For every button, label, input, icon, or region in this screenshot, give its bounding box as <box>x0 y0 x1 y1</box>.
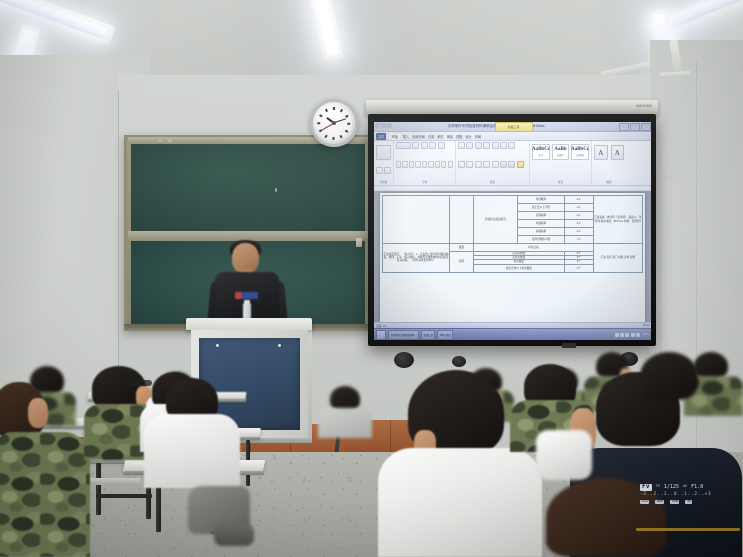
projector-brand-label: MAXHUB <box>636 104 652 108</box>
bold-icon[interactable] <box>396 161 401 168</box>
chalkboard-clip <box>168 139 172 142</box>
style-heading1[interactable]: AaBb 标题 1 <box>552 144 569 160</box>
document-canvas[interactable]: 师资队伍建设情况 专任教师 3人 汇总表格：教学科（张老师） 联系人：张老师 联… <box>374 191 651 322</box>
align-right-icon[interactable] <box>475 161 482 168</box>
ribbon-group-editing[interactable]: A A 编辑 <box>592 141 626 185</box>
taskbar-clock[interactable]: 10:12 <box>643 333 649 336</box>
highlight-icon[interactable] <box>441 161 446 168</box>
italic-icon[interactable] <box>402 161 407 168</box>
desk-rail <box>96 494 152 498</box>
taskbar-item-wps[interactable]: WPS 演示 <box>437 330 453 340</box>
taskbar-item-excel[interactable]: 表格汇总 <box>421 330 436 340</box>
wood-seam <box>390 420 391 456</box>
shirt-camera-print: Fv TV 1/125 AV F1.8 -3..2..1..0..1..2..+… <box>640 484 738 524</box>
shirt-exposure-scale: -3..2..1..0..1..2..+3 <box>640 492 738 497</box>
lectern-top <box>186 318 312 330</box>
projected-screen[interactable]: 办学条件专项检查材料清单及责任分工表.docx - Microsoft Word… <box>374 122 651 340</box>
group-label-font: 字体 <box>396 180 453 184</box>
justify-icon[interactable] <box>483 161 490 168</box>
subscript-icon[interactable] <box>422 161 427 168</box>
desk-leg <box>96 463 101 515</box>
shirt-aperture-prefix: AV <box>683 485 687 489</box>
tab-file[interactable]: 文件 <box>376 133 386 140</box>
borders-icon[interactable] <box>508 161 515 168</box>
tab-page-layout[interactable]: 页面布局 <box>412 134 425 139</box>
contextual-tab-label: 表格工具 <box>495 122 533 132</box>
cell-label-quantity[interactable]: 数量 <box>450 244 474 252</box>
classroom-scene: MAXHUB 办学条件专项检查材料清单及责任分工表.docx - Microso… <box>0 0 743 557</box>
text-effects-icon[interactable] <box>435 161 440 168</box>
tab-layout[interactable]: 布局 <box>475 134 481 139</box>
save-icon[interactable] <box>375 123 380 128</box>
tab-insert[interactable]: 插入 <box>403 134 409 139</box>
cell-note-left[interactable]: 汇总责任部门： （办公室） 1、负责各二级学院材料的收集、整理、汇总，核对材料，… <box>383 244 450 273</box>
word-application[interactable]: 办学条件专项检查材料清单及责任分工表.docx - Microsoft Word… <box>374 122 651 340</box>
chalkboard-clip <box>158 139 162 142</box>
cut-icon[interactable] <box>376 167 383 174</box>
shirt-chip-raw: RAW <box>670 500 679 504</box>
student-body-near-5 <box>378 448 542 557</box>
cell-value[interactable]: 3人 <box>564 228 593 236</box>
ribbon-group-paragraph[interactable]: 段落 <box>456 141 530 185</box>
shield-icon[interactable] <box>631 333 635 337</box>
group-label-clipboard: 剪贴板 <box>376 180 391 184</box>
style-preview: AaBbCc <box>571 147 589 152</box>
group-label-editing: 编辑 <box>594 180 624 184</box>
student-sleeve-near-7 <box>536 430 592 480</box>
tab-home[interactable]: 开始 <box>389 133 399 140</box>
style-name: 正文 <box>539 153 544 157</box>
group-label-styles: 样式 <box>532 180 589 184</box>
strikethrough-icon[interactable] <box>415 161 420 168</box>
cell-blank-b[interactable] <box>450 196 474 244</box>
cell-blank-a[interactable] <box>383 196 450 244</box>
student-body-near-1 <box>0 432 90 557</box>
cell-value[interactable]: 5人 <box>564 220 593 228</box>
status-page-indicator: 页面: 1/2 <box>376 324 386 328</box>
ribbon-group-font[interactable]: 字体 <box>394 141 456 185</box>
sort-icon[interactable] <box>500 142 507 149</box>
document-page[interactable]: 师资队伍建设情况 专任教师 3人 汇总表格：教学科（张老师） 联系人：张老师 联… <box>380 193 645 322</box>
quick-access-toolbar[interactable] <box>375 123 392 128</box>
student-body-near-4 <box>144 414 240 488</box>
student-body-far-3 <box>318 408 372 438</box>
shading-icon[interactable] <box>500 161 507 168</box>
cell-item[interactable]: 双师型教师人数 <box>518 236 565 244</box>
shirt-aperture-value: F1.8 <box>691 485 703 491</box>
cell-value[interactable]: 7人 <box>564 236 593 244</box>
cell-category[interactable]: 师资队伍建设情况 <box>473 196 517 244</box>
cell-item[interactable]: 高级职称 <box>518 212 565 220</box>
minimize-button[interactable] <box>619 123 629 131</box>
shirt-chip-4k: 4K <box>685 500 692 504</box>
grow-font-icon[interactable] <box>421 142 428 149</box>
cell-right-note[interactable]: 汇总表格：教学科（张老师） 联系人：张老师 联系电话：8877xxx 材料：见附… <box>593 196 642 244</box>
editing-icon[interactable]: A <box>611 145 625 160</box>
shirt-shutter-value: 1/125 <box>664 485 679 491</box>
lectern-screw <box>278 344 281 347</box>
line-spacing-icon[interactable] <box>492 161 499 168</box>
tab-review[interactable]: 审阅 <box>447 134 453 139</box>
table-row: 汇总责任部门： （办公室） 1、负责各二级学院材料的收集、整理、汇总，核对材料，… <box>383 244 643 252</box>
chalk-mark <box>275 188 277 192</box>
font-family-select[interactable] <box>396 142 411 149</box>
shirt-chip-awb: AWB <box>655 500 664 504</box>
shoe <box>214 524 254 546</box>
display-speaker <box>394 352 414 368</box>
tab-view[interactable]: 视图 <box>456 134 462 139</box>
windows-taskbar[interactable]: 办学条件专项检查材料... 表格汇总 WPS 演示 10:12 <box>374 328 651 340</box>
cell-value[interactable]: 1人 <box>564 204 593 212</box>
cell-sub-label[interactable]: 校企合作以下单位数量 <box>473 264 564 272</box>
show-marks-icon[interactable] <box>508 142 515 149</box>
cell-far-right-note[interactable]: 汇总 责任 部门 材料 清单 说明 <box>593 244 642 273</box>
cell-item[interactable]: 硕士及以上学历 <box>518 204 565 212</box>
style-nospacing[interactable]: AaBbCc 无间隔 <box>571 144 589 160</box>
paste-icon[interactable] <box>376 145 391 160</box>
cell-value[interactable]: 4人 <box>564 212 593 220</box>
shrink-font-icon[interactable] <box>429 142 436 149</box>
chalkboard-latch[interactable] <box>356 238 362 247</box>
shirt-print-underline <box>636 528 740 531</box>
clock-center-pin <box>332 121 336 125</box>
underline-icon[interactable] <box>409 161 414 168</box>
numbering-icon[interactable] <box>466 142 473 149</box>
ribbon-group-clipboard[interactable]: 剪贴板 <box>374 141 394 185</box>
style-name: 标题 1 <box>557 153 564 157</box>
ribbon-group-styles[interactable]: AaBbCc 正文 AaBb 标题 1 AaBbCc 无间隔 样式 <box>530 141 592 185</box>
ribbon[interactable]: 剪贴板 <box>374 141 651 186</box>
cell-item[interactable]: 初级职称 <box>518 228 565 236</box>
style-name: 无间隔 <box>576 153 583 157</box>
align-center-icon[interactable] <box>466 161 473 168</box>
student-face-near-1 <box>28 398 48 428</box>
increase-indent-icon[interactable] <box>492 142 499 149</box>
style-preview: AaBb <box>554 147 566 152</box>
clock-face <box>316 105 352 141</box>
style-normal[interactable]: AaBbCc 正文 <box>532 144 550 160</box>
shirt-mode-label: Fv <box>640 484 652 491</box>
battery-icon[interactable] <box>625 333 629 337</box>
ime-icon[interactable] <box>636 333 640 337</box>
lectern-screw <box>216 344 219 347</box>
maximize-button[interactable] <box>630 123 640 131</box>
chalkboard-panel-upper <box>131 142 365 231</box>
start-button-icon[interactable] <box>376 330 386 340</box>
cell-label-note[interactable]: 说明 <box>450 252 474 273</box>
bullets-icon[interactable] <box>458 142 465 149</box>
display-speaker <box>452 356 466 367</box>
display-logo <box>562 343 576 348</box>
align-left-icon[interactable] <box>458 161 465 168</box>
network-icon[interactable] <box>615 333 619 337</box>
tab-design[interactable]: 设计 <box>465 134 471 139</box>
cell-sub-value[interactable]: 2个 <box>564 264 593 272</box>
tab-references[interactable]: 引用 <box>428 134 434 139</box>
redo-icon[interactable] <box>387 123 392 128</box>
taskbar-item-word[interactable]: 办学条件专项检查材料... <box>388 330 419 340</box>
teacher-shirt-logo <box>235 292 258 299</box>
style-preview: AaBbCc <box>532 147 550 152</box>
document-table[interactable]: 师资队伍建设情况 专任教师 3人 汇总表格：教学科（张老师） 联系人：张老师 联… <box>382 195 643 273</box>
cell-item[interactable]: 专任教师 <box>518 196 565 204</box>
decrease-indent-icon[interactable] <box>483 142 490 149</box>
group-label-paragraph: 段落 <box>458 180 527 184</box>
shirt-shutter-prefix: TV <box>656 485 660 489</box>
table-row: 师资队伍建设情况 专任教师 3人 汇总表格：教学科（张老师） 联系人：张老师 联… <box>383 196 643 204</box>
change-styles-icon[interactable]: A <box>594 145 608 160</box>
undo-icon[interactable] <box>381 123 386 128</box>
ribbon-tab-strip[interactable]: 文件 开始 插入 页面布局 引用 邮件 审阅 视图 设计 布局 <box>374 132 651 141</box>
multilevel-list-icon[interactable] <box>475 142 482 149</box>
system-tray[interactable]: 10:12 <box>615 333 649 337</box>
status-zoom-level[interactable]: 100% <box>642 324 649 327</box>
clear-format-icon[interactable] <box>438 142 445 149</box>
cell-merged-deadline[interactable]: 1月1日前 <box>473 244 593 252</box>
cell-value[interactable]: 3人 <box>564 196 593 204</box>
shirt-chip-iso: ISO <box>640 500 649 504</box>
cell-item[interactable]: 中级职称 <box>518 220 565 228</box>
copy-icon[interactable] <box>384 167 391 174</box>
superscript-icon[interactable] <box>428 161 433 168</box>
close-button[interactable] <box>641 123 651 131</box>
font-color-icon[interactable] <box>448 161 453 168</box>
tab-mailings[interactable]: 邮件 <box>437 134 443 139</box>
eyeglasses-icon <box>130 380 152 386</box>
table-borders-icon[interactable] <box>517 161 524 168</box>
volume-icon[interactable] <box>620 333 624 337</box>
font-size-select[interactable] <box>412 142 419 149</box>
student-head-near-8 <box>640 352 698 400</box>
